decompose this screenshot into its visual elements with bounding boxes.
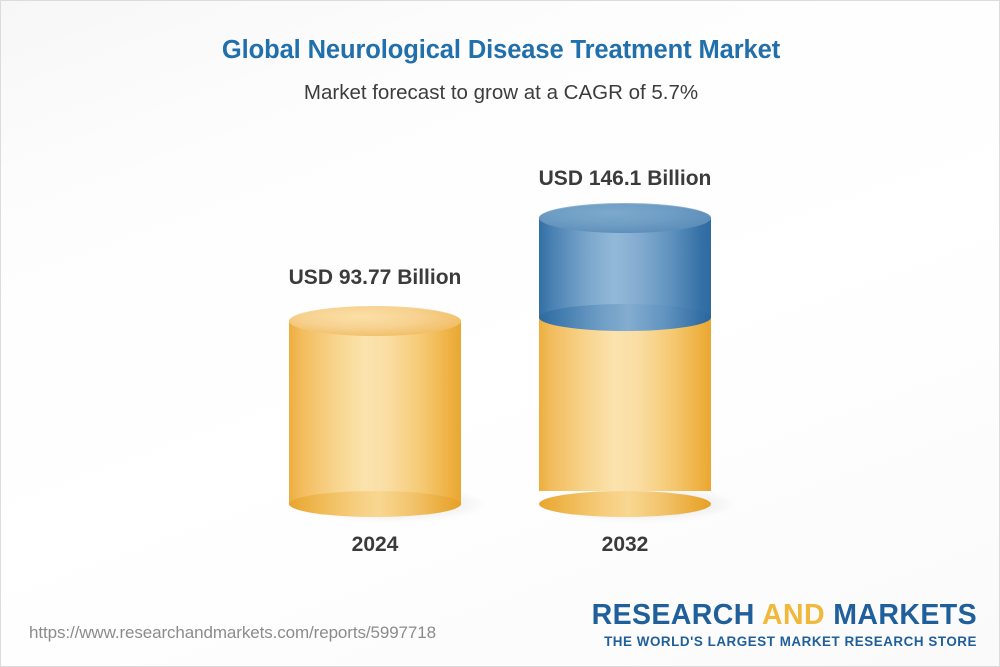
value-label-2032: USD 146.1 Billion xyxy=(495,167,755,191)
research-and-markets-logo[interactable]: RESEARCH AND MARKETS THE WORLD'S LARGEST… xyxy=(592,601,977,649)
chart-canvas: Global Neurological Disease Treatment Ma… xyxy=(0,0,1000,667)
cylinder-top-cap-2032 xyxy=(539,203,711,233)
cylinder-body-2032-base xyxy=(539,318,711,491)
value-label-2024: USD 93.77 Billion xyxy=(245,266,505,290)
logo-wordmark: RESEARCH AND MARKETS xyxy=(592,601,977,631)
logo-word-markets: MARKETS xyxy=(833,599,977,631)
category-label-2032: 2032 xyxy=(495,533,755,557)
logo-word-and: AND xyxy=(762,599,825,631)
cylinder-bottom-cap-2024 xyxy=(289,491,461,517)
cylinder-segment-seam-2032 xyxy=(539,304,711,331)
cylinder-2024 xyxy=(289,306,461,516)
logo-tagline: THE WORLD'S LARGEST MARKET RESEARCH STOR… xyxy=(592,634,977,649)
logo-word-research: RESEARCH xyxy=(592,599,755,631)
cylinder-bottom-cap-2032 xyxy=(539,491,711,517)
category-label-2024: 2024 xyxy=(245,533,505,557)
cylinder-top-cap-2024 xyxy=(289,306,461,336)
plot-area: USD 93.77 Billion 2024 USD 146.1 Billion xyxy=(1,1,1000,667)
report-url[interactable]: https://www.researchandmarkets.com/repor… xyxy=(29,623,436,643)
cylinder-2032 xyxy=(539,203,711,516)
cylinder-body-2024-base xyxy=(289,320,461,505)
